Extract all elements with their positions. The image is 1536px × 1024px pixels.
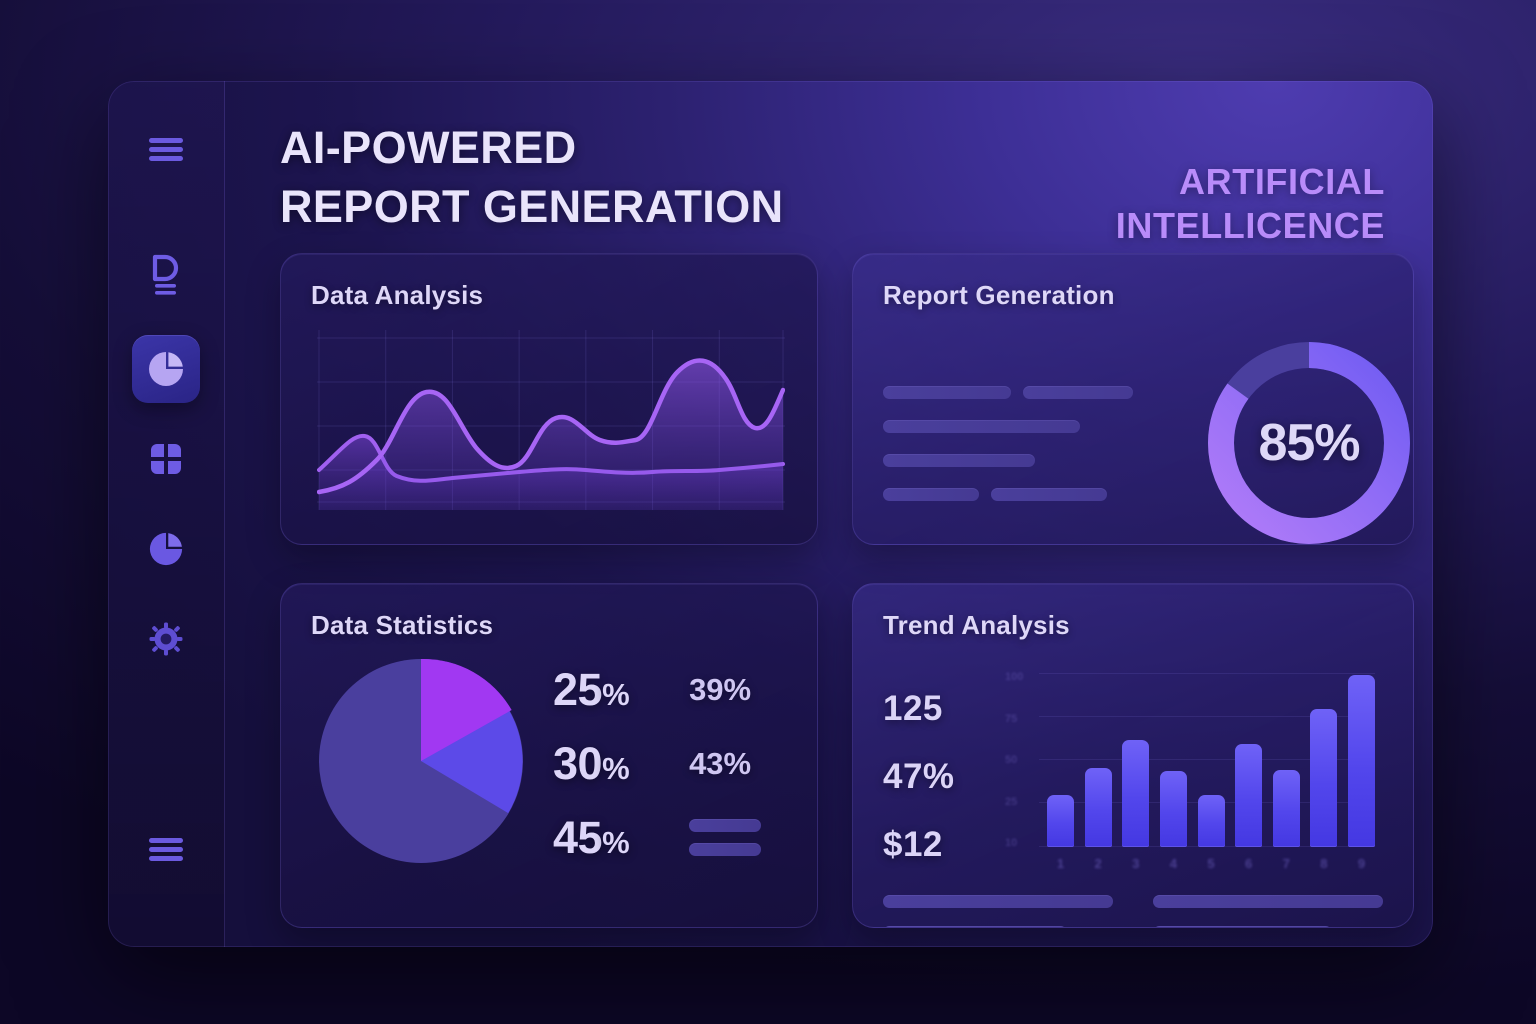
- document-d-icon: [149, 254, 183, 296]
- trend-stat-list: 125 47% $12: [883, 657, 995, 879]
- x-label: 7: [1273, 856, 1300, 871]
- sidebar-item-documents[interactable]: [132, 241, 200, 309]
- placeholder-bar: [689, 819, 761, 832]
- line-chart-area-b: [319, 361, 783, 510]
- pie-chart-icon: [147, 350, 185, 388]
- y-tick: 100: [1005, 671, 1023, 683]
- bar-chart-x-labels: 1 2 3 4 5 6 7 8 9: [1047, 856, 1375, 871]
- x-label: 8: [1310, 856, 1337, 871]
- placeholder-bar: [883, 454, 1035, 467]
- statistics-grid: 25% 39% 30% 43% 45%: [553, 664, 787, 864]
- sidebar-item-menu-top[interactable]: [132, 115, 200, 183]
- placeholder-bar: [1023, 386, 1133, 399]
- stat-primary-1: 25%: [553, 664, 629, 716]
- card-data-analysis[interactable]: Data Analysis: [280, 253, 818, 545]
- bar[interactable]: [1122, 740, 1149, 847]
- placeholder-bar: [883, 895, 1113, 908]
- y-tick: 75: [1005, 713, 1023, 725]
- statistics-body: 25% 39% 30% 43% 45%: [311, 655, 787, 872]
- gear-icon: [149, 622, 183, 656]
- header: AI-POWERED REPORT GENERATION ARTIFICIAL …: [280, 119, 1385, 247]
- pie-chart-svg: [315, 655, 527, 867]
- report-placeholder-lines: [883, 386, 1183, 501]
- hamburger-icon: [147, 835, 185, 863]
- grid-icon: [148, 441, 184, 477]
- sidebar-item-settings[interactable]: [132, 605, 200, 673]
- donut-chart: 85%: [1203, 337, 1414, 545]
- placeholder-row: [883, 454, 1183, 467]
- bar[interactable]: [1273, 770, 1300, 847]
- app-window: AI-POWERED REPORT GENERATION ARTIFICIAL …: [108, 81, 1433, 947]
- trend-placeholder-lines: [883, 895, 1383, 928]
- placeholder-bar: [883, 926, 1067, 928]
- sidebar-item-menu-bottom[interactable]: [132, 815, 200, 883]
- stat-primary-1-suffix: %: [602, 677, 629, 712]
- y-tick: 25: [1005, 796, 1023, 808]
- card-title-report-generation: Report Generation: [883, 280, 1383, 311]
- bar[interactable]: [1085, 768, 1112, 847]
- trend-stat-3: $12: [883, 825, 995, 865]
- stat-secondary-3-placeholder: [689, 819, 761, 856]
- y-tick: 10: [1005, 837, 1023, 849]
- bar[interactable]: [1310, 709, 1337, 847]
- placeholder-column: [1153, 895, 1383, 928]
- stat-primary-1-value: 25: [553, 664, 602, 715]
- bar[interactable]: [1235, 744, 1262, 847]
- x-label: 2: [1085, 856, 1112, 871]
- bar-chart: 100 75 50 25 10: [997, 657, 1383, 879]
- donut-progress-label: 85%: [1203, 337, 1414, 545]
- card-title-data-statistics: Data Statistics: [311, 610, 787, 641]
- card-report-generation[interactable]: Report Generation: [852, 253, 1414, 545]
- placeholder-bar: [1153, 895, 1383, 908]
- line-chart-svg: [317, 330, 785, 510]
- bar[interactable]: [1047, 795, 1074, 847]
- trend-stat-2: 47%: [883, 757, 995, 797]
- x-label: 9: [1348, 856, 1375, 871]
- stat-primary-2-suffix: %: [602, 751, 629, 786]
- placeholder-row: [883, 386, 1183, 399]
- card-data-statistics[interactable]: Data Statistics 25%: [280, 583, 818, 928]
- line-chart: [317, 330, 785, 510]
- placeholder-bar: [883, 386, 1011, 399]
- stat-primary-2-value: 30: [553, 738, 602, 789]
- sidebar-item-reports[interactable]: [132, 515, 200, 583]
- placeholder-row: [883, 420, 1183, 433]
- stat-primary-2: 30%: [553, 738, 629, 790]
- trend-stat-1: 125: [883, 689, 995, 729]
- placeholder-bar: [883, 488, 979, 501]
- y-tick: 50: [1005, 754, 1023, 766]
- stat-secondary-1: 39%: [689, 672, 751, 708]
- x-label: 6: [1235, 856, 1262, 871]
- placeholder-column: [883, 895, 1113, 928]
- sidebar-item-dashboard[interactable]: [132, 425, 200, 493]
- sidebar: [108, 81, 225, 947]
- bar[interactable]: [1160, 771, 1187, 847]
- trend-body: 125 47% $12 100 75 50 25 10: [883, 657, 1383, 879]
- stat-primary-3: 45%: [553, 812, 629, 864]
- card-trend-analysis[interactable]: Trend Analysis 125 47% $12 100 75 50 25: [852, 583, 1414, 928]
- stat-secondary-2: 43%: [689, 746, 751, 782]
- placeholder-bar: [689, 843, 761, 856]
- bar-chart-y-ticks: 100 75 50 25 10: [1005, 671, 1023, 849]
- sidebar-item-analytics[interactable]: [132, 335, 200, 403]
- x-label: 1: [1047, 856, 1074, 871]
- card-title-trend-analysis: Trend Analysis: [883, 610, 1383, 641]
- placeholder-bar: [883, 420, 1080, 433]
- main-content: AI-POWERED REPORT GENERATION ARTIFICIAL …: [225, 81, 1433, 947]
- x-label: 3: [1122, 856, 1149, 871]
- placeholder-bar: [1153, 926, 1332, 928]
- bar-chart-bars: [1047, 675, 1375, 847]
- brand-label-line-2: INTELLICENCE: [1116, 204, 1385, 248]
- pie-chart: [315, 655, 533, 872]
- pie-chart-icon: [148, 531, 184, 567]
- hamburger-icon: [147, 135, 185, 163]
- gridline: [1039, 673, 1375, 674]
- x-label: 5: [1198, 856, 1225, 871]
- placeholder-bar: [991, 488, 1107, 501]
- brand-label-line-1: ARTIFICIAL: [1116, 160, 1385, 204]
- card-grid: Data Analysis: [280, 253, 1385, 928]
- stat-primary-3-value: 45: [553, 812, 602, 863]
- bar[interactable]: [1198, 795, 1225, 847]
- x-label: 4: [1160, 856, 1187, 871]
- brand-label: ARTIFICIAL INTELLICENCE: [1116, 160, 1385, 249]
- bar[interactable]: [1348, 675, 1375, 847]
- card-title-data-analysis: Data Analysis: [311, 280, 787, 311]
- stat-primary-3-suffix: %: [602, 825, 629, 860]
- placeholder-row: [883, 488, 1183, 501]
- report-body: 85%: [883, 337, 1383, 545]
